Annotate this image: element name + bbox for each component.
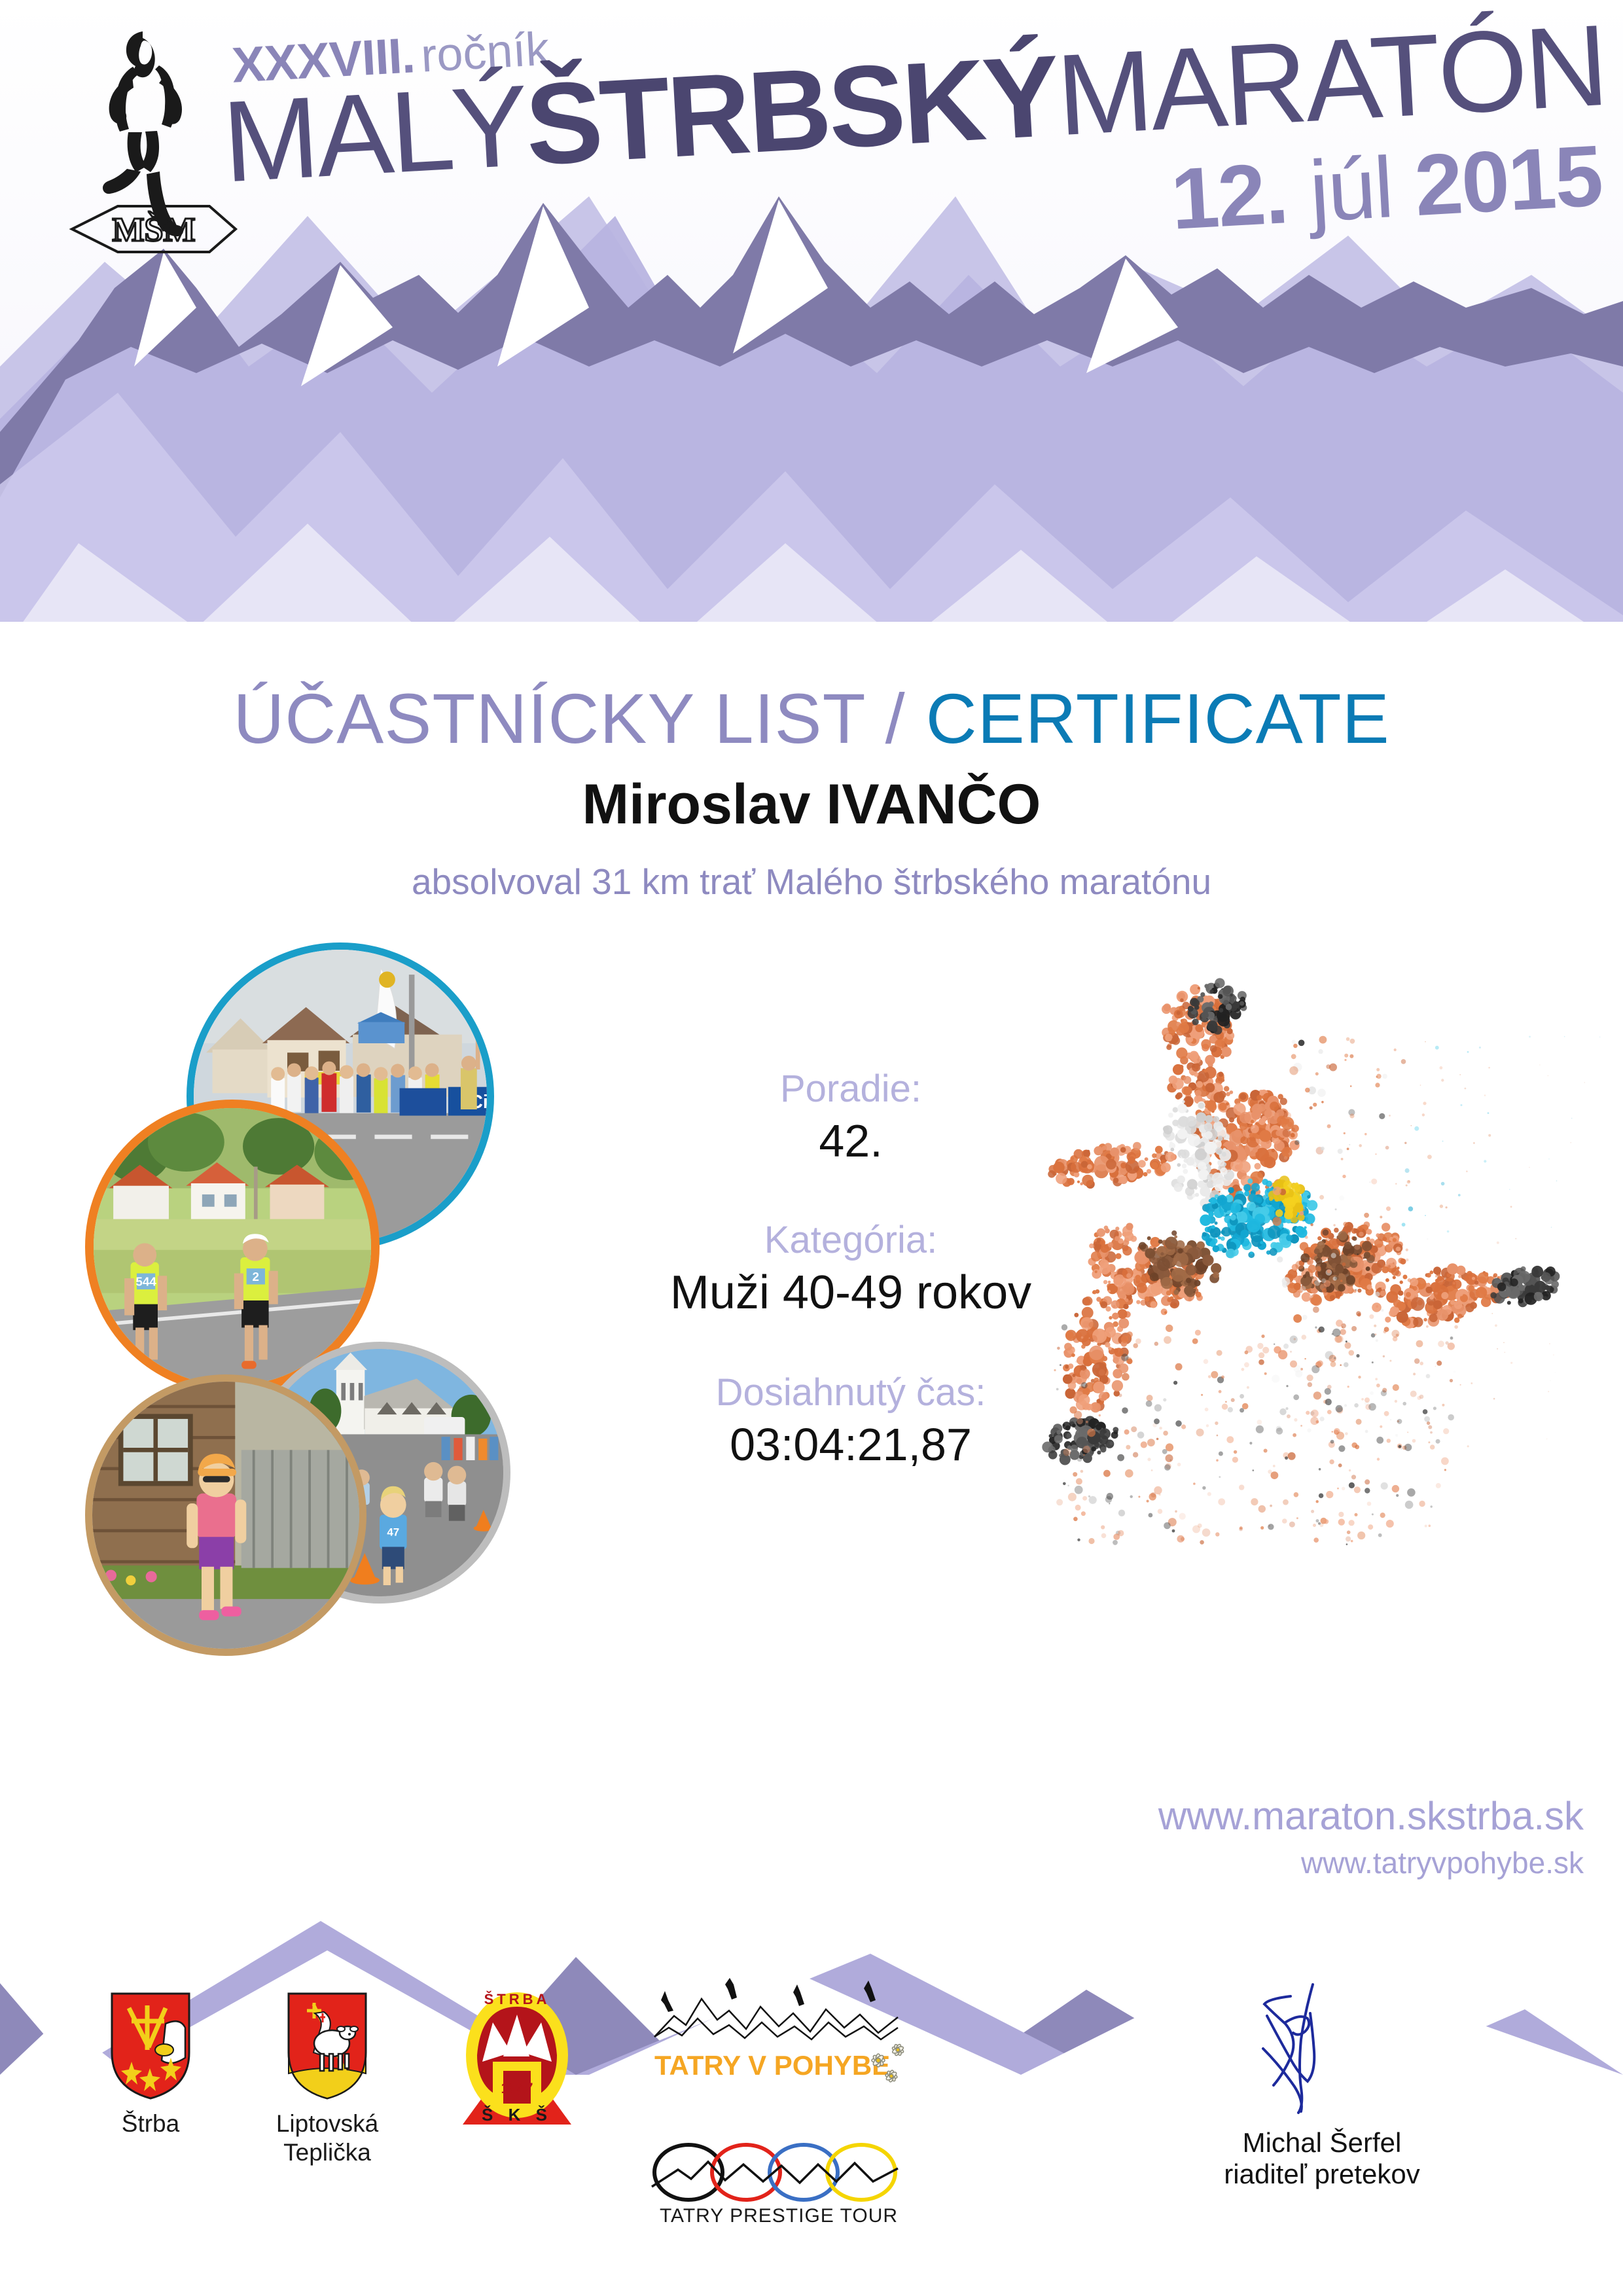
sks-logo-year: 1947 <box>501 2080 533 2096</box>
certificate-heading: ÚČASTNÍCKY LIST / CERTIFICATE <box>0 677 1623 759</box>
tatry-v-pohybe-logo: TATRY V POHYBE <box>648 1977 910 2140</box>
photo-two-runners-image: 544 2 <box>94 1108 371 1386</box>
title-part-strbsky: ŠTRBSKÝ <box>522 32 1061 190</box>
url-secondary[interactable]: www.tatryvpohybe.sk <box>1158 1845 1584 1880</box>
runner-particle-graphic <box>982 956 1603 1695</box>
url-primary[interactable]: www.maraton.skstrba.sk <box>1158 1793 1584 1839</box>
certificate-heading-en: CERTIFICATE <box>926 679 1390 758</box>
photo-woman-runner-image <box>92 1382 359 1649</box>
sks-club-logo-mark: ŠTRBA 1947 Š K Š ŠPORTOVÝ KLUB <box>448 1984 586 2135</box>
photo-woman-runner <box>85 1374 366 1656</box>
tatry-logos-group: TATRY V POHYBE <box>641 1977 916 2240</box>
header-band: MŠM XXXVIII.ročník MALÝŠTRBSKÝMARATÓN 12… <box>0 0 1623 655</box>
msm-runner-logo: MŠM <box>59 20 242 262</box>
msm-logo-text: MŠM <box>112 211 195 249</box>
certificate-heading-sk: ÚČASTNÍCKY LIST <box>233 679 865 758</box>
event-date-year: 2015 <box>1412 127 1604 234</box>
photo-two-runners-bib2: 2 <box>253 1270 259 1283</box>
sks-club-logo: ŠTRBA 1947 Š K Š ŠPORTOVÝ KLUB <box>445 1984 589 2138</box>
title-part-maly: MALÝ <box>220 62 529 207</box>
event-date-day: 12. <box>1168 145 1289 247</box>
tatry-v-pohybe-caption: TATRY V POHYBE <box>654 2050 890 2081</box>
signature-block: Michal Šerfel riaditeľ pretekov <box>1113 1977 1531 2190</box>
crest-strba-caption: Štrba <box>92 2109 209 2138</box>
photo-two-runners-bib: 544 <box>135 1274 156 1288</box>
crest-strba: Štrba <box>92 1990 209 2138</box>
photo-kids-race-bib: 47 <box>387 1526 399 1538</box>
crest-liptovska-teplicka: Liptovská Teplička <box>252 1990 402 2167</box>
crest-liptovska-teplicka-shield <box>285 1990 370 2101</box>
event-date-month: júl <box>1307 139 1395 240</box>
tatry-prestige-tour-caption: TATRY PRESTIGE TOUR <box>660 2205 898 2227</box>
crest-liptovska-teplicka-caption-2: Teplička <box>252 2138 402 2167</box>
crest-strba-shield <box>108 1990 193 2101</box>
participant-name: Miroslav IVANČO <box>0 772 1623 837</box>
signature-role: riaditeľ pretekov <box>1113 2159 1531 2190</box>
signature-mark <box>1217 1977 1427 2127</box>
signature-name: Michal Šerfel <box>1113 2127 1531 2159</box>
certificate-heading-separator: / <box>885 679 906 758</box>
tatry-prestige-tour-logo: TATRY PRESTIGE TOUR <box>648 2138 910 2236</box>
sks-logo-top-text: ŠTRBA <box>484 1991 550 2007</box>
achievement-text: absolvoval 31 km trať Malého štrbského m… <box>0 861 1623 903</box>
certificate-page: MŠM XXXVIII.ročník MALÝŠTRBSKÝMARATÓN 12… <box>0 0 1623 2296</box>
website-urls: www.maraton.skstrba.sk www.tatryvpohybe.… <box>1158 1793 1584 1880</box>
photo-collage: Cie <box>85 942 628 1793</box>
crest-liptovska-teplicka-caption-1: Liptovská <box>252 2109 402 2138</box>
